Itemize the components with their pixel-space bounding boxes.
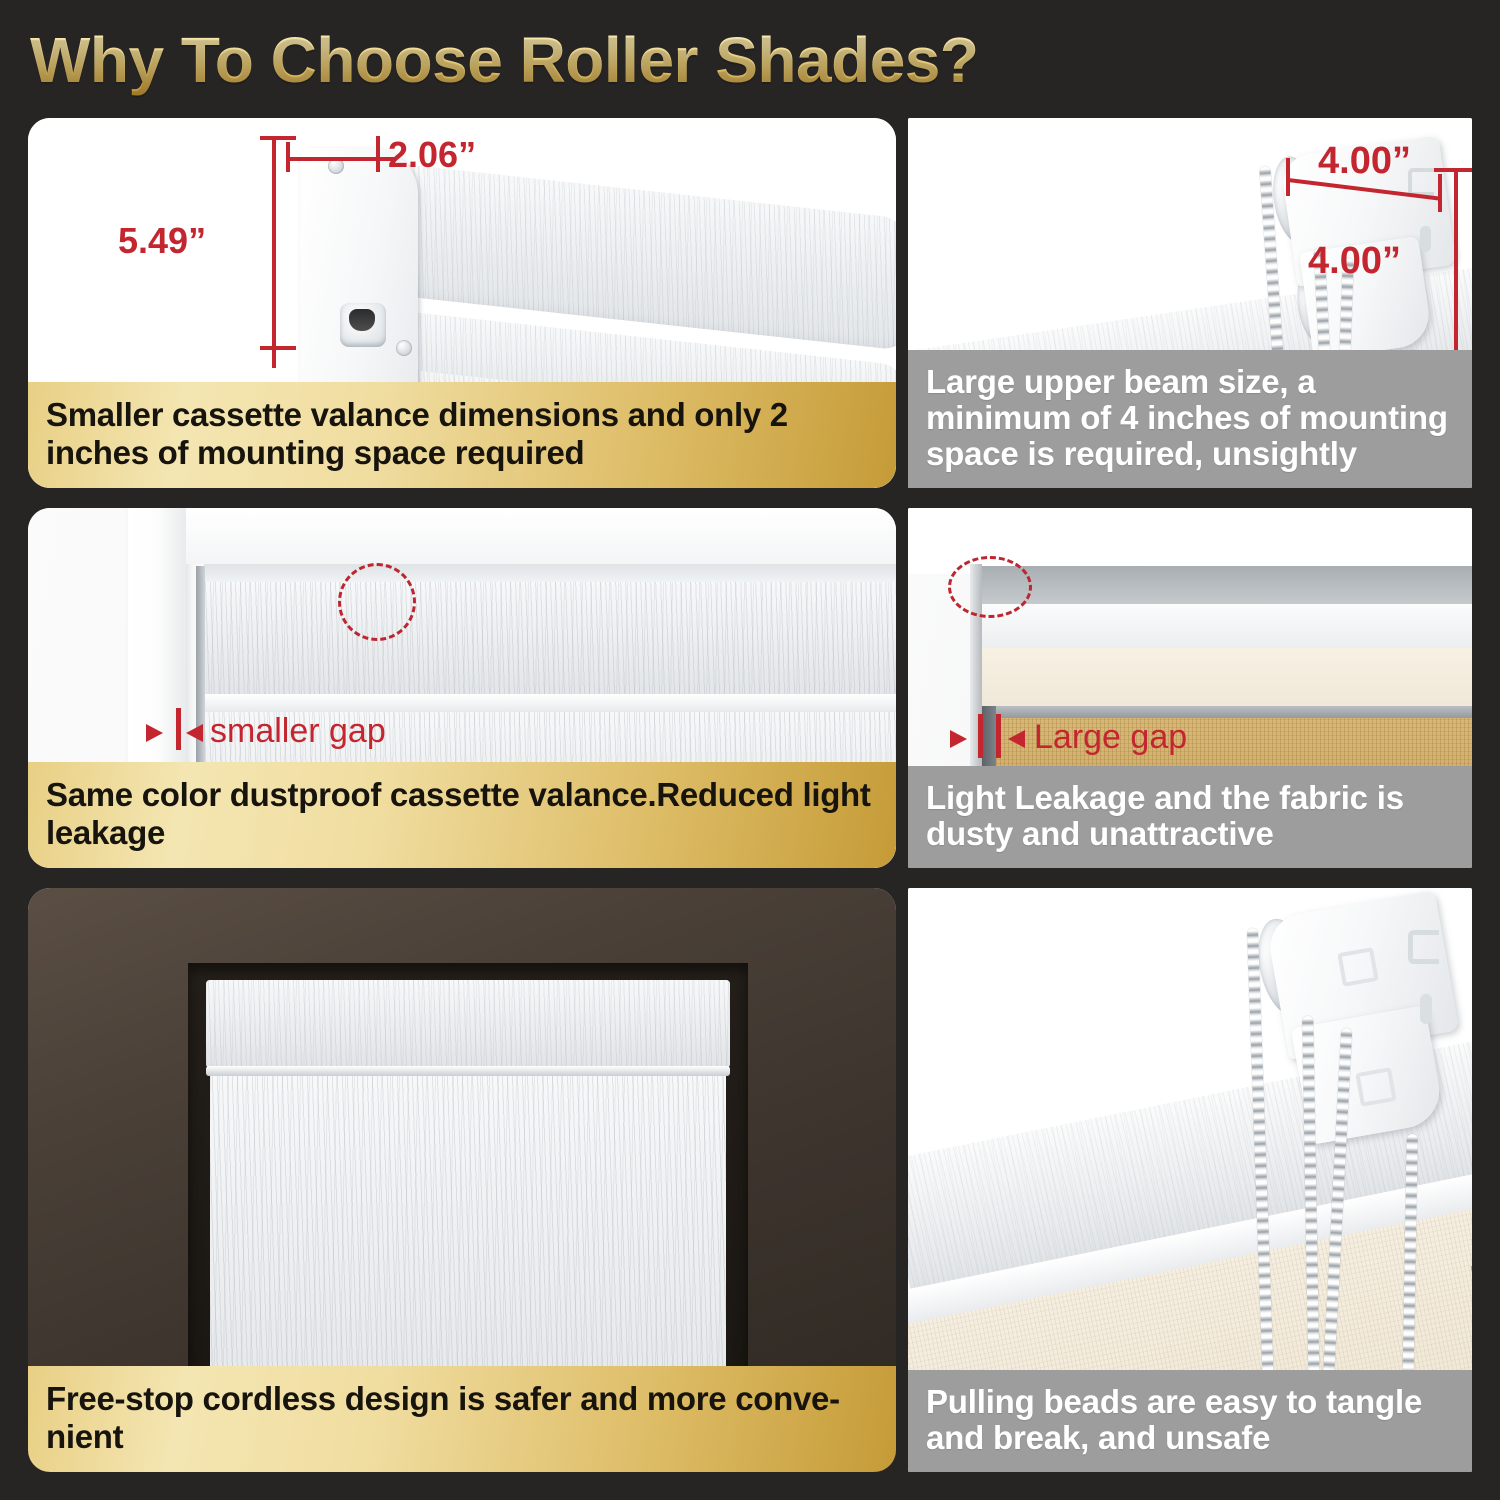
gap-marker [176,708,181,750]
panel-4-caption: Light Leakage and the fabric is dusty an… [908,766,1472,868]
panel-4-light-leakage: Large gap Light Leakage and the fabric i… [908,508,1472,868]
highlight-circle-icon [338,563,416,641]
height-dimension-label: 5.49” [118,220,206,262]
bracket-slot-icon [1408,168,1434,196]
bracket-hole-icon [1420,994,1432,1024]
panel-2-caption: Large upper beam size, a minimum of 4 in… [908,350,1472,488]
valance-texture [206,980,730,1068]
width-dimension-label: 4.00” [1318,140,1411,183]
bracket-slot-icon [1408,930,1439,964]
width-dimension-label: 2.06” [388,134,476,176]
gap-marker-right [996,714,1001,758]
panel-5-caption: Free-stop cordless design is safer and m… [28,1366,896,1472]
gap-arrow-left-icon [1008,730,1025,748]
screw-icon [396,340,412,356]
panel-1-caption: Smaller cassette valance dimensions and … [28,382,896,488]
gap-arrow-right-icon [146,724,163,742]
panel-6-caption-text: Pulling beads are easy to tangle and bre… [926,1384,1454,1456]
mechanism-slot-icon [340,303,386,347]
width-dimension-tick-left [1286,158,1290,196]
valance-separator [204,694,896,712]
width-dimension-tick-right [1438,174,1442,212]
panel-5-cordless-design: Free-stop cordless design is safer and m… [28,888,896,1472]
height-dimension-line [272,136,276,368]
cassette-valance [206,980,730,1068]
height-dimension-tick-top [1434,168,1472,172]
panel-6-pulling-beads: Pulling beads are easy to tangle and bre… [908,888,1472,1472]
valance-lip [206,1066,730,1076]
window-head-trim [186,508,896,564]
gap-arrow-left-icon [186,724,203,742]
panel-1-smaller-cassette: 2.06” 5.49” Smaller cassette valance dim… [28,118,896,488]
panel-3-caption-text: Same color dustproof cassette valance.Re… [46,776,878,852]
height-dimension-tick-bottom [260,346,296,350]
shade-fabric-band-upper [204,582,896,700]
panel-3-caption: Same color dustproof cassette valance.Re… [28,762,896,868]
gap-marker-left [978,714,983,758]
panel-1-caption-text: Smaller cassette valance dimensions and … [46,396,878,472]
panel-5-caption-text: Free-stop cordless design is safer and m… [46,1380,878,1456]
bracket-emblem-icon [1337,947,1378,987]
gap-callout-label: Large gap [1034,718,1187,757]
page-title: Why To Choose Roller Shades? [30,20,1230,100]
highlight-circle-icon [948,556,1032,618]
bracket-hole-icon [1420,226,1431,252]
panel-4-caption-text: Light Leakage and the fabric is dusty an… [926,780,1454,852]
height-dimension-line [1454,168,1458,354]
gap-callout-label: smaller gap [210,712,386,751]
panel-2-caption-text: Large upper beam size, a minimum of 4 in… [926,364,1454,472]
bracket-emblem-icon [1355,1067,1396,1107]
cream-fabric-roll [970,648,1472,714]
width-dimension-tick-right [376,136,380,172]
height-dimension-label: 4.00” [1308,240,1401,283]
panel-2-large-upper-beam: 4.00” 4.00” Large upper beam size, a min… [908,118,1472,488]
panel-3-dustproof-cassette: smaller gap Same color dustproof cassett… [28,508,896,868]
height-dimension-tick-top [260,136,296,140]
panel-6-caption: Pulling beads are easy to tangle and bre… [908,1370,1472,1472]
infographic-root: Why To Choose Roller Shades? 2.06” [0,0,1500,1500]
gap-arrow-right-icon [950,730,967,748]
width-dimension-tick-left [286,142,290,172]
